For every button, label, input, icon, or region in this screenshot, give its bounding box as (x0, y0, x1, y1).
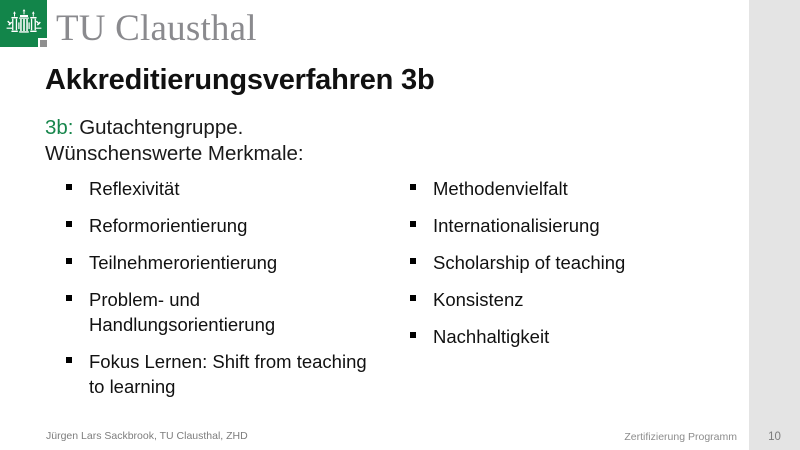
slide-canvas: TU Clausthal Akkreditierungsverfahren 3b… (0, 0, 800, 450)
subtitle-step-label: 3b: (45, 116, 74, 139)
right-gray-band (749, 0, 800, 450)
square-bullet-icon (66, 357, 72, 363)
list-item: Problem- und Handlungsorientierung (66, 287, 386, 337)
square-bullet-icon (410, 221, 416, 227)
list-item: Reflexivität (66, 176, 386, 201)
page-number: 10 (749, 431, 800, 443)
square-bullet-icon (410, 258, 416, 264)
subtitle-line-2: Wünschenswerte Merkmale: (45, 141, 304, 167)
list-item: Internationalisierung (410, 213, 720, 238)
bullet-column-left: Reflexivität Reformorientierung Teilnehm… (66, 176, 386, 411)
tu-clausthal-crest-icon (5, 6, 43, 40)
brand-header: TU Clausthal (0, 0, 290, 56)
square-bullet-icon (66, 184, 72, 190)
subtitle-step-text: Gutachtengruppe. (74, 116, 244, 139)
list-item: Reformorientierung (66, 213, 386, 238)
square-bullet-icon (66, 258, 72, 264)
bullet-column-right: Methodenvielfalt Internationalisierung S… (410, 176, 720, 361)
list-item: Konsistenz (410, 287, 720, 312)
page-title: Akkreditierungsverfahren 3b (45, 64, 434, 97)
square-bullet-icon (410, 332, 416, 338)
square-bullet-icon (410, 184, 416, 190)
list-item: Teilnehmerorientierung (66, 250, 386, 275)
list-item: Scholarship of teaching (410, 250, 720, 275)
square-bullet-icon (66, 295, 72, 301)
subtitle-line-1: 3b: Gutachtengruppe. (45, 115, 304, 141)
list-item: Fokus Lernen: Shift from teaching to lea… (66, 349, 386, 399)
slide-subtitle: 3b: Gutachtengruppe. Wünschenswerte Merk… (45, 115, 304, 167)
logo-corner-square (38, 38, 49, 49)
square-bullet-icon (66, 221, 72, 227)
footer-program: Zertifizierung Programm (600, 431, 737, 443)
logo-square (0, 0, 47, 47)
footer-author: Jürgen Lars Sackbrook, TU Clausthal, ZHD (46, 430, 248, 442)
list-item: Methodenvielfalt (410, 176, 720, 201)
square-bullet-icon (410, 295, 416, 301)
brand-wordmark: TU Clausthal (56, 8, 257, 50)
list-item: Nachhaltigkeit (410, 324, 720, 349)
